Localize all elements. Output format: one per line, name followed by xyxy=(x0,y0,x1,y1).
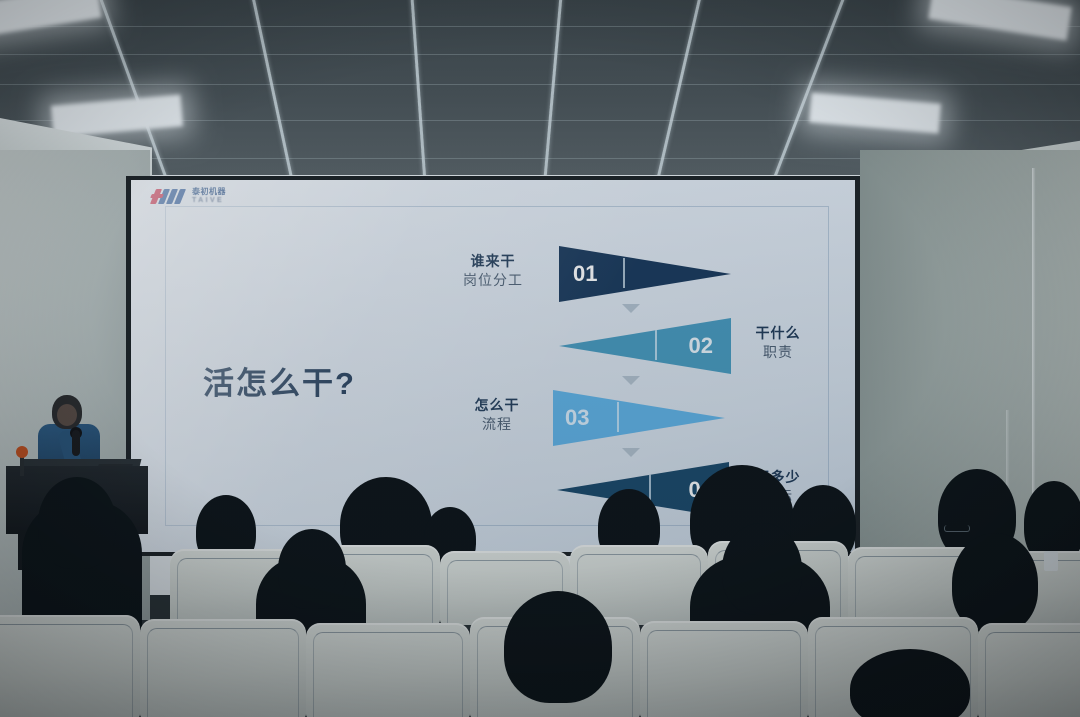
mic-stand-top-icon xyxy=(16,446,28,458)
ceiling-panel-light xyxy=(809,92,941,133)
handheld-microphone-icon xyxy=(72,430,80,456)
audience-seat xyxy=(306,623,470,717)
ceiling-panel-light xyxy=(0,0,102,38)
audience-seat xyxy=(640,621,808,717)
audience-seating xyxy=(0,467,1080,717)
audience-head xyxy=(38,477,116,569)
audience-head xyxy=(504,591,612,703)
ceiling-panel-light xyxy=(928,0,1072,41)
presenter-face xyxy=(57,404,77,426)
conference-room-scene: 泰初机器 TAIVE 活怎么干? 谁来干 岗位分工 01 xyxy=(0,0,1080,717)
audience-head xyxy=(722,523,802,615)
audience-seat xyxy=(140,619,306,717)
phone-screen xyxy=(1044,551,1058,571)
audience-seat xyxy=(0,615,140,717)
audience-head xyxy=(278,529,346,609)
audience-seat xyxy=(978,623,1080,717)
eyeglasses-icon xyxy=(944,525,970,532)
